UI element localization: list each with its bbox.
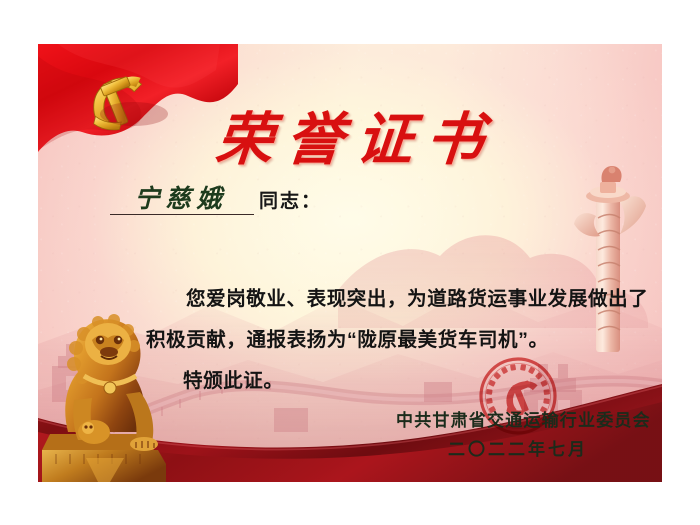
citation-line-2: 积极贡献，通报表扬为“陇原最美货车司机”。: [146, 323, 549, 352]
issuing-authority: 中共甘肃省交通运输行业委员会: [396, 406, 651, 431]
page-title: 荣誉证书: [38, 94, 662, 176]
honor-certificate: 荣誉证书 宁慈娥 同志： 您爱岗敬业、表现突出，为道路货运事业发展做出了 积极贡…: [38, 44, 662, 482]
certificate-content: 荣誉证书 宁慈娥 同志： 您爱岗敬业、表现突出，为道路货运事业发展做出了 积极贡…: [38, 44, 662, 482]
citation-line-3: 特颁此证。: [183, 364, 284, 393]
recipient-row: 宁慈娥 同志：: [110, 186, 322, 215]
issue-date: 二〇二二年七月: [448, 435, 588, 460]
recipient-suffix-label: 同志：: [259, 186, 322, 215]
citation-line-1: 您爱岗敬业、表现突出，为道路货运事业发展做出了: [186, 282, 648, 311]
screenshot-canvas: 荣誉证书 宁慈娥 同志： 您爱岗敬业、表现突出，为道路货运事业发展做出了 积极贡…: [0, 0, 700, 525]
recipient-name-field[interactable]: 宁慈娥: [110, 186, 254, 215]
